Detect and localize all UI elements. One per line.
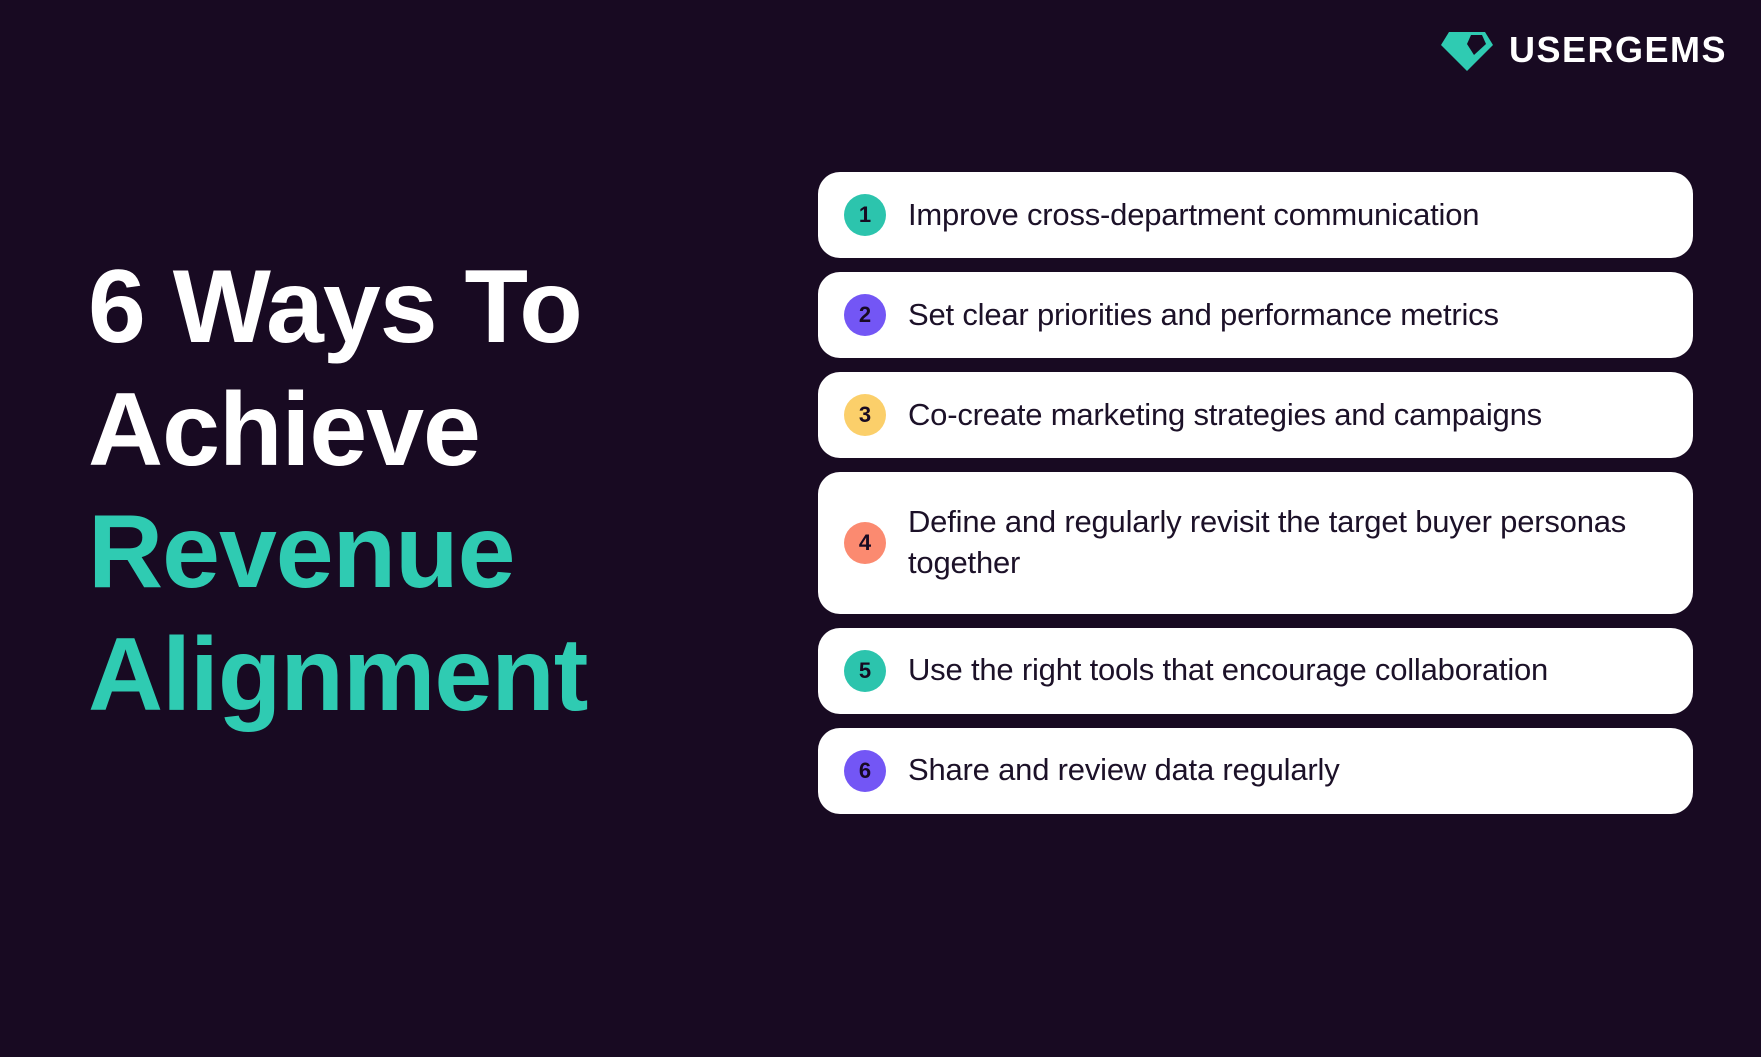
brand-logo-text: USERGEMS [1509,32,1727,68]
list-item[interactable]: 1 Improve cross-department communication [818,172,1693,258]
list-item-label: Use the right tools that encourage colla… [908,650,1548,691]
title-line-4: Alignment [88,614,708,737]
tips-list: 1 Improve cross-department communication… [818,172,1693,814]
list-item-badge: 4 [844,522,886,564]
list-item-label: Share and review data regularly [908,750,1340,791]
list-item-badge: 3 [844,394,886,436]
list-item-label: Set clear priorities and performance met… [908,295,1499,336]
list-item-badge: 2 [844,294,886,336]
list-item[interactable]: 2 Set clear priorities and performance m… [818,272,1693,358]
list-item-label: Define and regularly revisit the target … [908,502,1663,584]
title-line-3: Revenue [88,491,708,614]
list-item[interactable]: 5 Use the right tools that encourage col… [818,628,1693,714]
slide-root: USERGEMS 6 Ways To Achieve Revenue Align… [0,0,1761,1057]
list-item[interactable]: 6 Share and review data regularly [818,728,1693,814]
brand-logo: USERGEMS [1441,28,1727,72]
title-line-1: 6 Ways To [88,246,708,369]
list-item-badge: 6 [844,750,886,792]
gem-diamond-icon [1441,28,1493,72]
list-item[interactable]: 4 Define and regularly revisit the targe… [818,472,1693,614]
list-item[interactable]: 3 Co-create marketing strategies and cam… [818,372,1693,458]
list-item-badge: 1 [844,194,886,236]
list-item-label: Improve cross-department communication [908,195,1479,236]
list-item-badge: 5 [844,650,886,692]
list-item-label: Co-create marketing strategies and campa… [908,395,1542,436]
title-line-2: Achieve [88,369,708,492]
page-title: 6 Ways To Achieve Revenue Alignment [88,246,708,737]
